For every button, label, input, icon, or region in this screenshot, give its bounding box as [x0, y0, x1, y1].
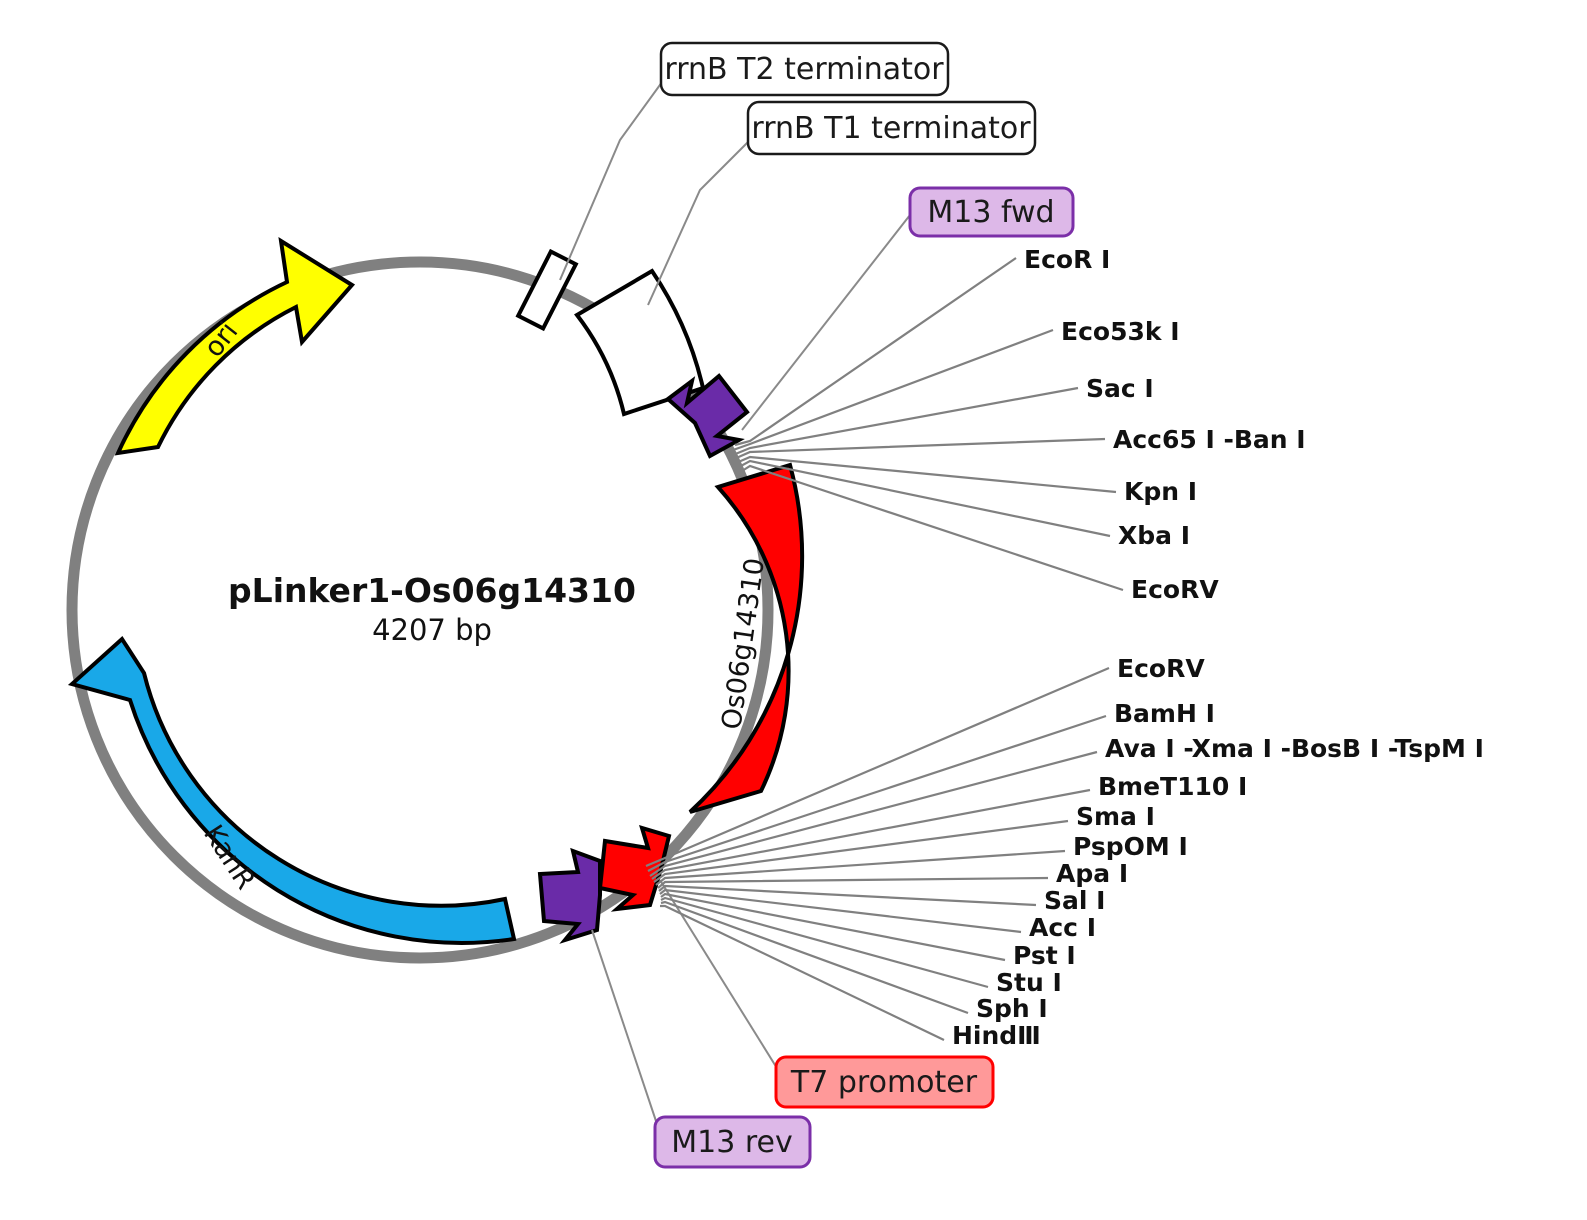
enzyme-label-eco53k-i: Eco53k I	[1061, 317, 1180, 346]
enzyme-label-sal-i: Sal I	[1044, 886, 1105, 915]
feature-os06g14310[interactable]: Os06g14310	[690, 465, 802, 812]
enzyme-label-ecor-i: EcoR I	[1024, 245, 1110, 274]
enzyme-label-bamh-i: BamH I	[1114, 699, 1215, 728]
leader-enz-l-6	[658, 878, 1048, 888]
callout-rrnb-t2-label: rrnB T2 terminator	[664, 52, 944, 87]
leader-enz-u-0	[735, 258, 1016, 445]
callout-t7-promoter-label: T7 promoter	[790, 1065, 978, 1100]
kanr-arrow-shape	[72, 639, 514, 943]
plasmid-map-svg: ori KanR Os06g14310	[0, 0, 1587, 1220]
leader-m13-fwd	[742, 215, 910, 430]
callout-m13-fwd-label: M13 fwd	[927, 195, 1054, 230]
leader-enz-l-9	[661, 894, 1005, 960]
callout-m13-rev[interactable]: M13 rev	[655, 1117, 810, 1167]
leader-t7-promoter	[660, 880, 780, 1073]
plasmid-size: 4207 bp	[372, 613, 492, 647]
callout-rrnb-t2-terminator[interactable]: rrnB T2 terminator	[661, 43, 948, 95]
enzyme-label-bmet110-i: BmeT110 I	[1098, 772, 1247, 801]
leader-enz-l-2	[650, 752, 1097, 876]
enzyme-label-kpn-i: Kpn I	[1124, 477, 1197, 506]
enzyme-label-sac-i: Sac I	[1086, 374, 1154, 403]
leader-enz-u-1	[733, 330, 1053, 450]
enzyme-label-ecorv-upper: EcoRV	[1131, 575, 1219, 604]
enzyme-label-pst-i: Pst I	[1013, 941, 1076, 970]
callout-t7-promoter[interactable]: T7 promoter	[776, 1057, 993, 1107]
callout-rrnb-t1-terminator[interactable]: rrnB T1 terminator	[748, 102, 1035, 154]
plasmid-name: pLinker1-Os06g14310	[228, 571, 636, 610]
enzyme-label-hind-iii: HindⅢ	[952, 1021, 1041, 1050]
leader-rrnb-t2	[560, 78, 665, 280]
feature-kanr[interactable]: KanR	[72, 639, 514, 943]
leader-enz-u-2	[733, 388, 1078, 455]
enzyme-labels-lower: EcoRV BamH I Ava I -Xma I -BosB I -TspM …	[952, 654, 1484, 1050]
enzyme-label-apa-i: Apa I	[1056, 859, 1128, 888]
leader-enz-u-3	[734, 439, 1105, 459]
enzyme-label-pspom-i: PspOM I	[1073, 832, 1188, 861]
leader-m13-rev	[592, 930, 660, 1133]
leader-rrnb-t1	[648, 138, 752, 305]
callout-m13-rev-label: M13 rev	[671, 1125, 792, 1160]
feature-ori[interactable]: ori	[118, 241, 352, 453]
enzyme-label-sma-i: Sma I	[1076, 802, 1155, 831]
enzyme-labels-upper: EcoR I Eco53k I Sac I Acc65 I -Ban I Kpn…	[1024, 245, 1306, 604]
enzyme-label-sph-i: Sph I	[976, 994, 1048, 1023]
callout-m13-fwd[interactable]: M13 fwd	[910, 188, 1073, 236]
enzyme-label-acc-i: Acc I	[1029, 913, 1096, 942]
callout-rrnb-t1-label: rrnB T1 terminator	[751, 111, 1031, 146]
enzyme-label-ecorv-lower: EcoRV	[1117, 654, 1205, 683]
enzyme-label-stu-i: Stu I	[996, 968, 1062, 997]
plasmid-map-canvas: ori KanR Os06g14310	[0, 0, 1587, 1220]
leader-enz-l-10	[661, 898, 988, 987]
enzyme-label-xba-i: Xba I	[1118, 521, 1190, 550]
enzyme-label-acc65-i-ban-i: Acc65 I -Ban I	[1113, 425, 1306, 454]
enzyme-label-ava-i-group: Ava I -Xma I -BosB I -TspM I	[1105, 734, 1484, 763]
leader-enz-l-12	[660, 906, 944, 1040]
